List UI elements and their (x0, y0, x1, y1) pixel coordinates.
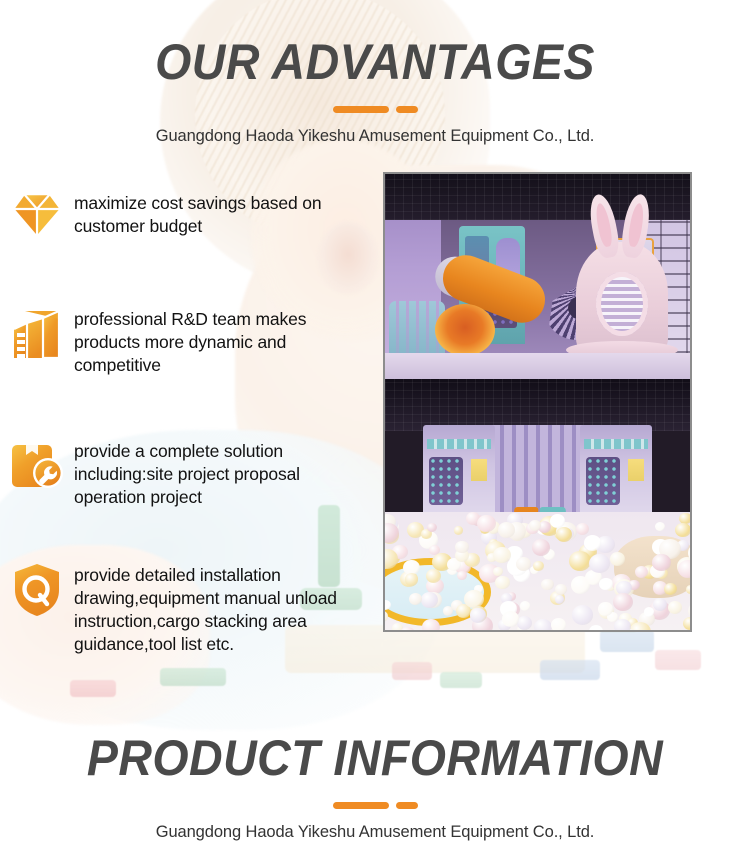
ball (668, 601, 682, 614)
ball (517, 616, 533, 630)
footer-section: PRODUCT INFORMATION Guangdong Haoda Yike… (0, 732, 750, 842)
structure-band (427, 439, 491, 449)
ball (576, 523, 589, 535)
left-play-structure (423, 425, 495, 523)
toy-block (600, 630, 654, 652)
toy-block (70, 680, 116, 697)
ball (422, 619, 439, 630)
ball (675, 523, 690, 538)
header-section: OUR ADVANTAGES Guangdong Haoda Yikeshu A… (0, 36, 750, 146)
ball (569, 551, 591, 571)
ball-pit (385, 512, 690, 630)
ball (427, 523, 437, 532)
structure-sign (628, 459, 644, 481)
advantage-text: provide a complete solution including:si… (74, 434, 375, 509)
right-play-structure (580, 425, 652, 523)
dark-ceiling (385, 379, 690, 431)
advantage-item-3: provide a complete solution including:si… (0, 434, 375, 546)
ball (454, 526, 463, 534)
ball (683, 617, 690, 630)
footer-company-subtitle: Guangdong Haoda Yikeshu Amusement Equipm… (11, 822, 739, 842)
ball (664, 583, 677, 595)
package-wrench-icon (0, 434, 74, 490)
ball (589, 625, 604, 630)
ball (652, 554, 670, 571)
advantage-item-4: provide detailed installation drawing,eq… (0, 558, 375, 668)
ball (551, 618, 566, 630)
structure-dot-panel (586, 457, 620, 505)
ball (400, 627, 415, 630)
ball (653, 598, 667, 611)
structure-sign (471, 459, 487, 481)
advantage-item-2: professional R&D team makes products mor… (0, 302, 375, 422)
slide-exit-mouth (435, 304, 495, 356)
advantages-page: OUR ADVANTAGES Guangdong Haoda Yikeshu A… (0, 0, 750, 856)
diamond-icon (0, 186, 74, 240)
ball (541, 579, 553, 590)
footer-divider (0, 802, 750, 809)
ball (470, 608, 486, 623)
toy-block (440, 672, 482, 688)
product-photo (383, 172, 692, 632)
structure-band (584, 439, 648, 449)
ball (534, 619, 552, 630)
ball (455, 541, 469, 554)
company-subtitle: Guangdong Haoda Yikeshu Amusement Equipm… (11, 126, 739, 146)
ball (516, 557, 531, 571)
ball (598, 602, 613, 615)
ball (426, 569, 441, 583)
ball (678, 560, 690, 578)
shield-quality-icon (0, 558, 74, 618)
toy-block (392, 662, 432, 680)
divider-bar-long (333, 802, 389, 809)
bunny-entrance (596, 272, 648, 336)
ball (464, 590, 483, 608)
playroom-floor (385, 353, 690, 379)
building-growth-icon (0, 302, 74, 360)
ball (686, 585, 690, 593)
ball (477, 515, 495, 532)
advantage-item-1: maximize cost savings based on customer … (0, 186, 375, 290)
ball (555, 595, 564, 604)
ball (533, 561, 543, 571)
structure-dot-panel (429, 457, 463, 505)
toy-block (540, 660, 600, 680)
ball (502, 611, 519, 627)
toy-block (655, 650, 701, 670)
advantages-list: maximize cost savings based on customer … (0, 186, 375, 680)
ball (520, 601, 530, 611)
ball (429, 545, 440, 555)
page-title: OUR ADVANTAGES (26, 36, 724, 89)
ball (613, 593, 633, 611)
ball (421, 592, 438, 607)
ball (614, 619, 630, 630)
ball (498, 522, 515, 538)
ball (610, 552, 625, 566)
ball (550, 514, 565, 528)
ball (572, 605, 593, 624)
ball (555, 584, 567, 595)
divider-bar-long (333, 106, 389, 113)
title-divider (0, 106, 750, 113)
ball (556, 527, 572, 542)
divider-bar-short (396, 802, 418, 809)
advantage-text: provide detailed installation drawing,eq… (74, 558, 375, 656)
divider-bar-short (396, 106, 418, 113)
advantage-text: professional R&D team makes products mor… (74, 302, 375, 377)
ball (599, 578, 612, 590)
footer-title: PRODUCT INFORMATION (26, 732, 724, 785)
ball (584, 535, 601, 551)
ball (457, 571, 467, 580)
ball (655, 522, 665, 531)
ball (495, 576, 510, 590)
playground-scene-top (385, 174, 690, 379)
ballpit-scene-bottom (385, 379, 690, 630)
ball (589, 554, 610, 573)
pink-bunny-house (576, 242, 668, 354)
advantage-text: maximize cost savings based on customer … (74, 186, 375, 238)
ball (493, 567, 503, 576)
